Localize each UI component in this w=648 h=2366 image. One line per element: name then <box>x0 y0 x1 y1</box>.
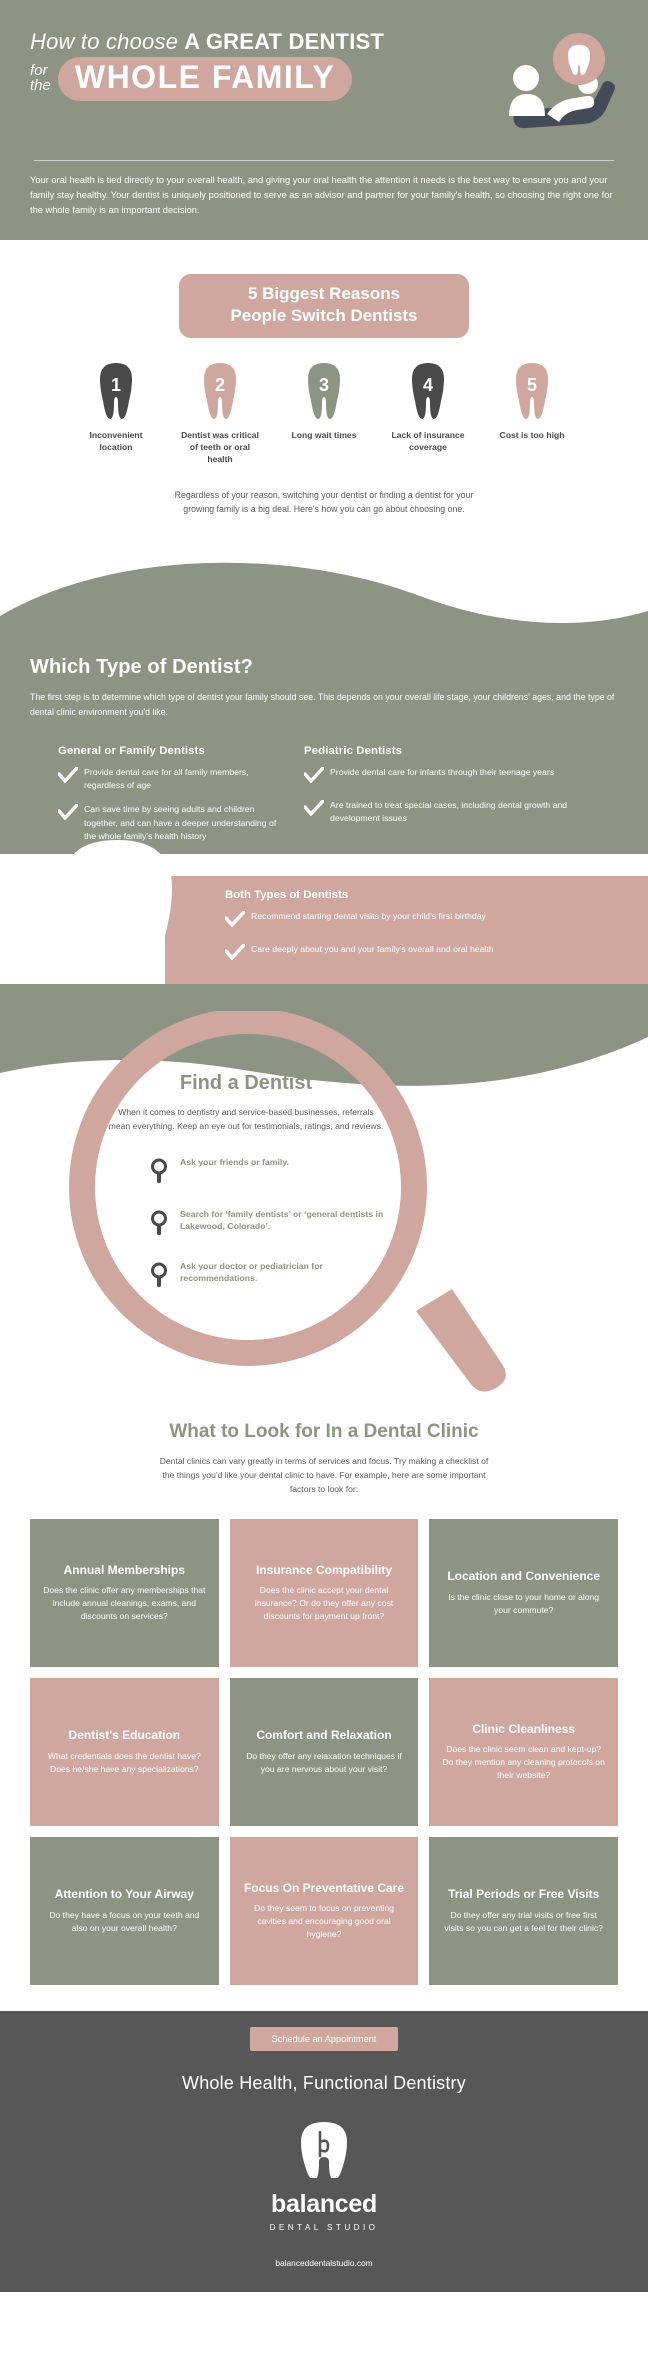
footer-tagline: Whole Health, Functional Dentistry <box>0 2073 648 2094</box>
bullet-text: Care deeply about you and your family's … <box>251 943 494 965</box>
find-item-text: Ask your friends or family. <box>180 1156 289 1169</box>
clinic-card: Location and Convenience Is the clinic c… <box>429 1519 618 1667</box>
clinic-checklist-section: What to Look for In a Dental Clinic Dent… <box>0 1421 648 1985</box>
clinic-card-title: Focus On Preventative Care <box>243 1881 406 1896</box>
reason-number: 3 <box>283 375 365 396</box>
clinic-card-body: What credentials does the dentist have? … <box>43 1750 206 1776</box>
clinic-card-body: Do they offer any trial visits or free f… <box>442 1909 605 1935</box>
clinic-card: Dentist's Education What credentials doe… <box>30 1678 219 1826</box>
brand-name: balanced <box>0 2190 648 2219</box>
bullet-text: Provide dental care for all family membe… <box>84 766 286 792</box>
which-type-paragraph: The first step is to determine which typ… <box>30 690 618 719</box>
find-heading-line2: Find a Dentist <box>96 1071 396 1095</box>
tooth-icon-5: 5 <box>491 361 573 421</box>
reason-number: 5 <box>491 375 573 396</box>
tooth-icon-4: 4 <box>387 361 469 421</box>
clinic-card-body: Do they seem to focus on preventing cavi… <box>243 1902 406 1941</box>
find-dentist-content: How to Find a Dentist When it comes to d… <box>96 1047 396 1312</box>
reason-label: Lack of insurance coverage <box>387 430 469 454</box>
bullet-item: Are trained to treat special cases, incl… <box>304 799 618 825</box>
footer-section: Schedule an Appointment Whole Health, Fu… <box>0 2011 648 2292</box>
clinic-card: Trial Periods or Free Visits Do they off… <box>429 1837 618 1985</box>
general-dentists-heading: General or Family Dentists <box>58 745 286 757</box>
tooth-icon-1: 1 <box>75 361 157 421</box>
which-type-heading: Which Type of Dentist? <box>30 656 618 679</box>
pediatric-dentists-heading: Pediatric Dentists <box>304 745 618 757</box>
check-icon <box>58 766 84 792</box>
bullet-item: Provide dental care for infants through … <box>304 766 618 788</box>
reason-item: 3 Long wait times <box>283 361 365 466</box>
which-type-body: Which Type of Dentist? The first step is… <box>0 656 648 854</box>
reasons-banner: 5 Biggest Reasons People Switch Dentists <box>179 274 469 338</box>
list-item: Search for ‘family dentists’ or ‘general… <box>150 1208 396 1241</box>
reasons-banner-line1: 5 Biggest Reasons <box>189 283 459 305</box>
hero-title-script: How to choose <box>30 29 178 54</box>
infographic-page: How to choose A GREAT DENTIST for the WH… <box>0 0 648 2292</box>
clinic-card-title: Comfort and Relaxation <box>243 1728 406 1743</box>
reasons-note: Regardless of your reason, switching you… <box>174 488 474 517</box>
clinic-card: Comfort and Relaxation Do they offer any… <box>230 1678 419 1826</box>
clinic-card: Focus On Preventative Care Do they seem … <box>230 1837 419 1985</box>
magnifier-icon <box>150 1208 180 1241</box>
both-types-heading: Both Types of Dentists <box>225 889 622 901</box>
find-item-text: Ask your doctor or pediatrician for reco… <box>180 1260 396 1285</box>
clinic-card-title: Attention to Your Airway <box>43 1887 206 1902</box>
hero-forthe: for the <box>30 63 58 95</box>
reason-item: 4 Lack of insurance coverage <box>387 361 469 466</box>
reason-label: Dentist was critical of teeth or oral he… <box>179 430 261 466</box>
list-item: Ask your friends or family. <box>150 1156 396 1189</box>
pediatric-dentists-column: Pediatric Dentists Provide dental care f… <box>304 745 618 854</box>
reason-item: 2 Dentist was critical of teeth or oral … <box>179 361 261 466</box>
bullet-text: Recommend starting dental visits by your… <box>251 910 486 932</box>
clinic-card-body: Does the clinic offer any memberships th… <box>43 1584 206 1623</box>
hero-title-line2: for the WHOLE FAMILY <box>30 57 494 101</box>
find-dentist-heading: How to Find a Dentist <box>96 1047 396 1096</box>
bullet-item: Care deeply about you and your family's … <box>225 943 622 965</box>
balanced-logo-icon <box>0 2120 648 2183</box>
bullet-text: Are trained to treat special cases, incl… <box>330 799 618 825</box>
tooth-icon-2: 2 <box>179 361 261 421</box>
find-dentist-section: How to Find a Dentist When it comes to d… <box>0 1011 648 1411</box>
reason-item: 5 Cost is too high <box>491 361 573 466</box>
clinic-card-body: Do they offer any relaxation techniques … <box>243 1750 406 1776</box>
clinic-card-title: Insurance Compatibility <box>243 1563 406 1578</box>
clinic-card: Attention to Your Airway Do they have a … <box>30 1837 219 1985</box>
bullet-item: Provide dental care for all family membe… <box>58 766 286 792</box>
reasons-banner-line2: People Switch Dentists <box>189 305 459 327</box>
clinic-card: Clinic Cleanliness Does the clinic seem … <box>429 1678 618 1826</box>
hero-divider <box>34 160 614 161</box>
find-heading-line1: How to <box>96 1047 396 1071</box>
hero-title-bold: A GREAT DENTIST <box>184 29 384 54</box>
clinic-card-title: Clinic Cleanliness <box>442 1722 605 1737</box>
clinic-card-body: Does the clinic accept your dental insur… <box>243 1584 406 1623</box>
find-dentist-list: Ask your friends or family. Search for ‘… <box>96 1156 396 1293</box>
reason-number: 2 <box>179 375 261 396</box>
reason-label: Inconvenient location <box>75 430 157 454</box>
clinic-card: Insurance Compatibility Does the clinic … <box>230 1519 419 1667</box>
hero-pill: WHOLE FAMILY <box>58 57 352 101</box>
clinic-paragraph: Dental clinics can vary greatly in terms… <box>159 1455 489 1497</box>
check-icon <box>304 799 330 825</box>
schedule-appointment-button[interactable]: Schedule an Appointment <box>250 2027 399 2051</box>
big-tooth-icon <box>58 838 176 989</box>
hero-section: How to choose A GREAT DENTIST for the WH… <box>0 0 648 240</box>
check-icon <box>304 766 330 788</box>
check-icon <box>225 943 251 965</box>
clinic-card-title: Trial Periods or Free Visits <box>442 1887 605 1902</box>
hero-for-word: for <box>30 63 51 78</box>
magnifier-icon <box>150 1260 180 1293</box>
clinic-card-body: Is the clinic close to your home or alon… <box>442 1591 605 1617</box>
dentist-family-illustration <box>500 26 618 149</box>
bullet-text: Provide dental care for infants through … <box>330 766 554 788</box>
clinic-card-body: Do they have a focus on your teeth and a… <box>43 1909 206 1935</box>
hero-titles: How to choose A GREAT DENTIST for the WH… <box>30 26 494 101</box>
magnifier-icon <box>150 1156 180 1189</box>
reason-number: 1 <box>75 375 157 396</box>
find-item-text: Search for ‘family dentists’ or ‘general… <box>180 1208 396 1233</box>
reasons-section: 5 Biggest Reasons People Switch Dentists… <box>0 240 648 530</box>
check-icon <box>225 910 251 932</box>
tooth-icon-3: 3 <box>283 361 365 421</box>
clinic-card-body: Does the clinic seem clean and kept-up? … <box>442 1743 605 1782</box>
website-url[interactable]: balanceddentalstudio.com <box>0 2258 648 2268</box>
reason-label: Cost is too high <box>491 430 573 442</box>
both-types-strip: Both Types of Dentists Recommend startin… <box>0 876 648 984</box>
hero-paragraph: Your oral health is tied directly to you… <box>30 173 618 218</box>
clinic-card-title: Location and Convenience <box>442 1569 605 1584</box>
find-dentist-paragraph: When it comes to dentistry and service-b… <box>96 1106 396 1134</box>
hero-title-line1: How to choose A GREAT DENTIST <box>30 30 494 54</box>
wave-top-shape <box>0 556 648 656</box>
clinic-cards-grid: Annual Memberships Does the clinic offer… <box>30 1519 618 1985</box>
clinic-card: Annual Memberships Does the clinic offer… <box>30 1519 219 1667</box>
clinic-heading: What to Look for In a Dental Clinic <box>30 1421 618 1443</box>
list-item: Ask your doctor or pediatrician for reco… <box>150 1260 396 1293</box>
bullet-item: Recommend starting dental visits by your… <box>225 910 622 932</box>
clinic-card-title: Dentist's Education <box>43 1728 206 1743</box>
hero-the-word: the <box>30 78 51 93</box>
clinic-card-title: Annual Memberships <box>43 1563 206 1578</box>
brand-subtitle: DENTAL STUDIO <box>0 2223 648 2232</box>
reasons-teeth-row: 1 Inconvenient location 2 Dentist was cr… <box>0 361 648 466</box>
reason-number: 4 <box>387 375 469 396</box>
both-types-content: Both Types of Dentists Recommend startin… <box>165 876 648 965</box>
reason-item: 1 Inconvenient location <box>75 361 157 466</box>
reason-label: Long wait times <box>283 430 365 442</box>
